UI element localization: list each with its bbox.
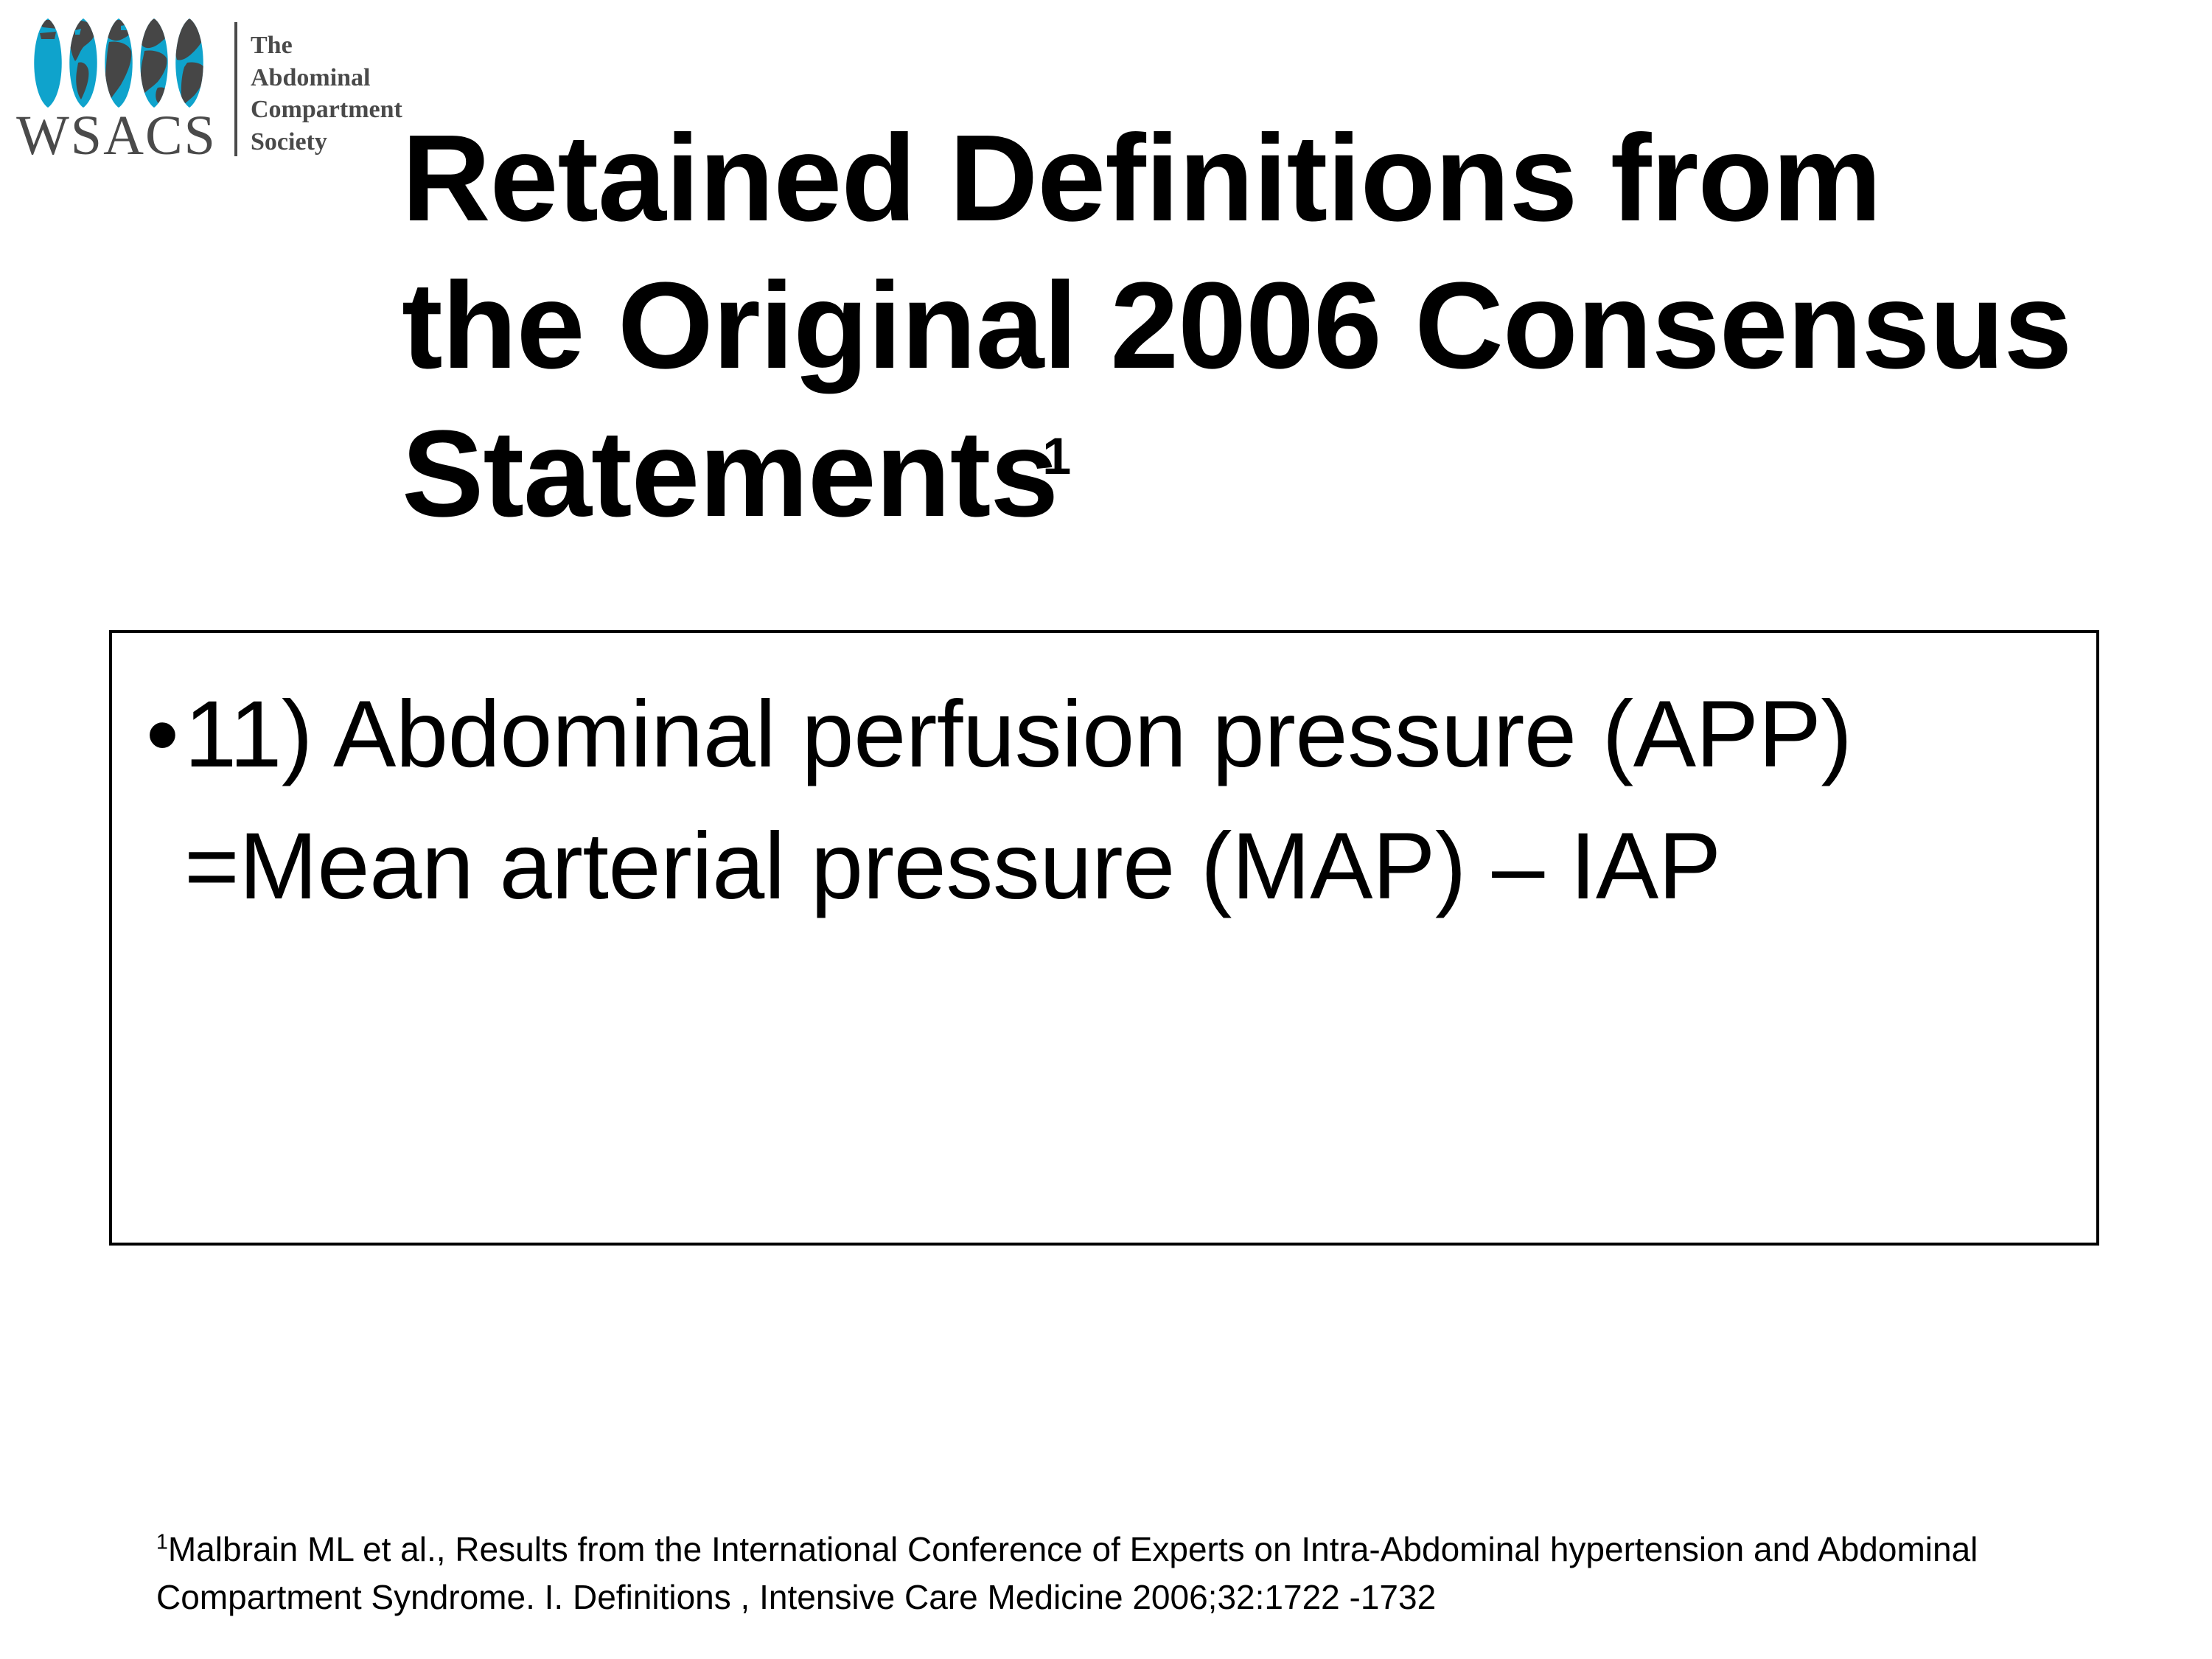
wsacs-wordmark: WSACS (13, 108, 220, 164)
title-superscript-marker: 1 (1042, 427, 1070, 485)
footnote-text: Malbrain ML et al., Results from the Int… (156, 1530, 1978, 1616)
list-item: 11) Abdominal perfusion pressure (APP) =… (112, 633, 2096, 932)
page-title: Retained Definitions from the Original 2… (402, 105, 2082, 548)
footnote-citation: 1Malbrain ML et al., Results from the In… (156, 1526, 2043, 1622)
title-line-2: Original 2006 Consensus (618, 257, 2071, 394)
globe-icon (13, 17, 220, 109)
definition-box: 11) Abdominal perfusion pressure (APP) =… (109, 630, 2099, 1246)
footnote-superscript-marker: 1 (156, 1531, 168, 1554)
wsacs-logo: WSACS The Abdominal Compartment Society (13, 13, 397, 168)
logo-divider (234, 22, 237, 156)
logo-tagline: The Abdominal Compartment Society (251, 29, 402, 158)
title-line-3: Statements (402, 405, 1058, 542)
definition-bullet-list: 11) Abdominal perfusion pressure (APP) =… (112, 633, 2096, 932)
slide-canvas: WSACS The Abdominal Compartment Society … (0, 0, 2212, 1659)
